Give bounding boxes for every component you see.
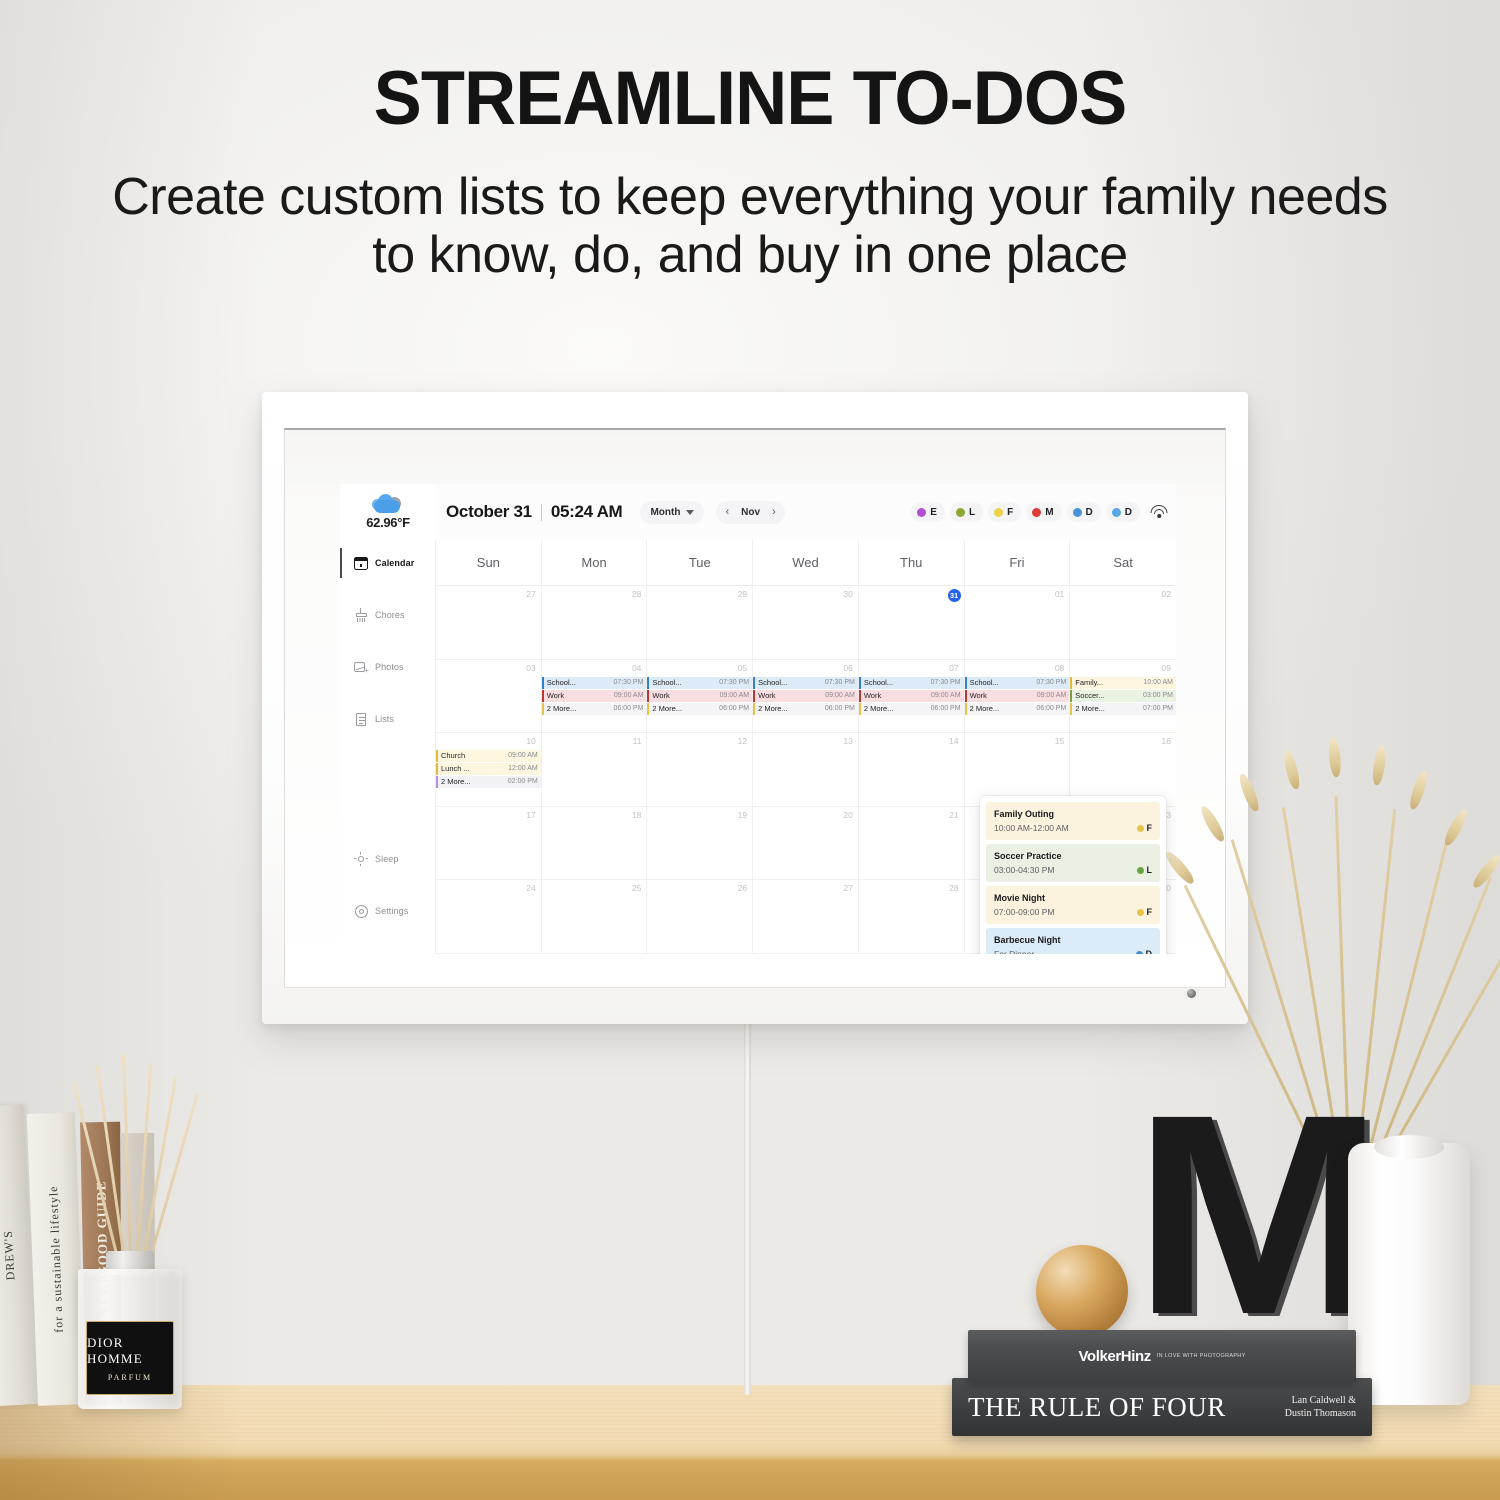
event-time: 06:00 PM bbox=[613, 703, 643, 715]
book-cover-bottom: THE RULE OF FOUR Lan Caldwell &Dustin Th… bbox=[952, 1378, 1372, 1436]
day-number: 01 bbox=[965, 589, 1070, 599]
popup-event-time: 10:00 AM-12:00 AM bbox=[994, 823, 1069, 833]
popup-event-card[interactable]: Soccer Practice03:00-04:30 PML bbox=[986, 844, 1160, 882]
calendar-grid: Sun Mon Tue Wed Thu Fri Sat 272829303101… bbox=[436, 540, 1176, 954]
event-time: 07:30 PM bbox=[719, 677, 749, 689]
owner-color-dot bbox=[1137, 867, 1144, 874]
calendar-day-cell[interactable]: 28 bbox=[542, 586, 648, 659]
owner-initial: F bbox=[1147, 823, 1153, 833]
event-detail-popup[interactable]: Family Outing10:00 AM-12:00 AMFSoccer Pr… bbox=[980, 796, 1166, 954]
calendar-event[interactable]: Family...10:00 AM bbox=[1070, 677, 1176, 689]
day-number: 27 bbox=[436, 589, 541, 599]
calendar-day-cell[interactable]: 13 bbox=[753, 733, 859, 806]
promo-subheadline: Create custom lists to keep everything y… bbox=[0, 168, 1500, 284]
day-number: 19 bbox=[647, 810, 752, 820]
day-number: 16 bbox=[1070, 736, 1176, 746]
dow-cell: Thu bbox=[859, 540, 965, 586]
day-number: 28 bbox=[542, 589, 647, 599]
diffuser-label: DIOR HOMME PARFUM bbox=[86, 1321, 174, 1395]
calendar-day-cell[interactable]: 07School...07:30 PMWork09:00 AM2 More...… bbox=[859, 660, 965, 733]
member-color-dot bbox=[1073, 508, 1082, 517]
wifi-icon[interactable] bbox=[1150, 505, 1168, 519]
popup-event-title: Movie Night bbox=[994, 892, 1152, 904]
event-time: 03:00 PM bbox=[1143, 690, 1173, 702]
day-number: 05 bbox=[647, 663, 752, 673]
view-mode-label: Month bbox=[650, 507, 680, 518]
owner-color-dot bbox=[1137, 825, 1144, 832]
day-number: 21 bbox=[859, 810, 964, 820]
event-title: School... bbox=[649, 677, 681, 689]
event-time: 06:00 PM bbox=[931, 703, 961, 715]
calendar-day-cell[interactable]: 20 bbox=[753, 807, 859, 880]
day-number: 15 bbox=[965, 736, 1070, 746]
event-time: 07:30 PM bbox=[1036, 677, 1066, 689]
event-title: Church bbox=[438, 750, 465, 762]
sidebar-item-label: Chores bbox=[375, 610, 405, 620]
event-title: 2 More... bbox=[861, 703, 894, 715]
event-time: 06:00 PM bbox=[719, 703, 749, 715]
calendar-day-cell[interactable]: 26 bbox=[647, 880, 753, 953]
calendar-day-cell[interactable]: 27 bbox=[753, 880, 859, 953]
day-number: 04 bbox=[542, 663, 647, 673]
calendar-event[interactable]: 2 More...06:00 PM bbox=[542, 703, 647, 715]
popup-event-time: For Dinner bbox=[994, 949, 1034, 954]
popup-event-owner: F bbox=[1137, 823, 1153, 833]
day-number: 17 bbox=[436, 810, 541, 820]
event-time: 07:30 PM bbox=[825, 677, 855, 689]
calendar-event[interactable]: Church09:00 AM bbox=[436, 750, 541, 762]
member-color-dot bbox=[1032, 508, 1041, 517]
event-title: 2 More... bbox=[438, 776, 471, 788]
weather-widget[interactable]: 62.96°F bbox=[340, 484, 436, 540]
calendar-event[interactable]: School...07:30 PM bbox=[965, 677, 1070, 689]
promo-text-block: STREAMLINE TO-DOS Create custom lists to… bbox=[0, 60, 1500, 284]
day-number: 25 bbox=[542, 883, 647, 893]
owner-initial: D bbox=[1146, 949, 1153, 954]
sun-icon bbox=[354, 852, 368, 866]
event-title: Work bbox=[544, 690, 564, 702]
calendar-day-cell[interactable]: 21 bbox=[859, 807, 965, 880]
popup-event-card[interactable]: Movie Night07:00-09:00 PMF bbox=[986, 886, 1160, 924]
calendar-day-cell[interactable]: 08School...07:30 PMWork09:00 AM2 More...… bbox=[965, 660, 1071, 733]
calendar-day-cell[interactable]: 30 bbox=[753, 586, 859, 659]
member-filter-bar: E L F M D D bbox=[911, 502, 1176, 522]
event-title: 2 More... bbox=[967, 703, 1000, 715]
reed-diffuser: DIOR HOMME PARFUM bbox=[70, 1245, 190, 1410]
day-number: 24 bbox=[436, 883, 541, 893]
sidebar-item-chores[interactable]: Chores bbox=[340, 600, 435, 630]
event-title: Work bbox=[755, 690, 775, 702]
broom-icon bbox=[354, 608, 368, 622]
owner-initial: F bbox=[1147, 907, 1153, 917]
sidebar-item-lists[interactable]: Lists bbox=[340, 704, 435, 734]
sidebar-item-label: Calendar bbox=[375, 558, 414, 568]
day-number: 08 bbox=[965, 663, 1070, 673]
popup-event-meta: 07:00-09:00 PMF bbox=[994, 907, 1152, 917]
day-number: 10 bbox=[436, 736, 541, 746]
day-events: School...07:30 PMWork09:00 AM2 More...06… bbox=[859, 677, 964, 715]
popup-event-title: Family Outing bbox=[994, 808, 1152, 820]
event-title: Lunch ... bbox=[438, 763, 470, 775]
view-mode-dropdown[interactable]: Month bbox=[640, 501, 704, 524]
calendar-day-cell[interactable]: 17 bbox=[436, 807, 542, 880]
member-color-dot bbox=[1112, 508, 1121, 517]
sidebar-nav: Calendar Chores + Photos Lists bbox=[340, 540, 436, 954]
event-time: 07:30 PM bbox=[613, 677, 643, 689]
day-number: 13 bbox=[753, 736, 858, 746]
popup-event-card[interactable]: Family Outing10:00 AM-12:00 AMF bbox=[986, 802, 1160, 840]
event-title: 2 More... bbox=[755, 703, 788, 715]
day-events: Family...10:00 AMSoccer...03:00 PM2 More… bbox=[1070, 677, 1176, 715]
popup-event-meta: 03:00-04:30 PML bbox=[994, 865, 1152, 875]
sidebar-item-label: Sleep bbox=[375, 854, 399, 864]
owner-color-dot bbox=[1137, 909, 1144, 916]
chevron-down-icon bbox=[686, 510, 694, 515]
calendar-event[interactable]: 2 More...06:00 PM bbox=[753, 703, 858, 715]
event-title: Family... bbox=[1072, 677, 1103, 689]
dow-cell: Mon bbox=[542, 540, 648, 586]
calendar-day-cell[interactable]: 27 bbox=[436, 586, 542, 659]
list-doc-icon bbox=[354, 712, 368, 726]
day-number: 30 bbox=[753, 589, 858, 599]
event-title: School... bbox=[967, 677, 999, 689]
calendar-event[interactable]: Lunch ...12:00 AM bbox=[436, 763, 541, 775]
event-title: Work bbox=[967, 690, 987, 702]
day-number: 12 bbox=[647, 736, 752, 746]
month-label: Nov bbox=[741, 507, 760, 518]
event-time: 06:00 PM bbox=[1036, 703, 1066, 715]
day-number: 09 bbox=[1070, 663, 1176, 673]
vase-mouth bbox=[1374, 1135, 1444, 1159]
dow-cell: Fri bbox=[965, 540, 1071, 586]
calendar-day-cell[interactable]: 18 bbox=[542, 807, 648, 880]
member-chip[interactable]: D bbox=[1106, 502, 1140, 522]
dow-cell: Wed bbox=[753, 540, 859, 586]
popup-event-time: 03:00-04:30 PM bbox=[994, 865, 1054, 875]
calendar-day-cell[interactable]: 12 bbox=[647, 733, 753, 806]
sidebar-item-calendar[interactable]: Calendar bbox=[340, 548, 435, 578]
event-time: 02:00 PM bbox=[508, 776, 538, 788]
book-cover-top: VolkerHinz IN LOVE WITH PHOTOGRAPHY bbox=[968, 1330, 1356, 1382]
day-number: 20 bbox=[753, 810, 858, 820]
book-title: THE RULE OF FOUR bbox=[968, 1392, 1226, 1423]
calendar-event[interactable]: 2 More...07:00 PM bbox=[1070, 703, 1176, 715]
sidebar-item-label: Settings bbox=[375, 906, 408, 916]
sidebar-item-settings[interactable]: Settings bbox=[340, 896, 435, 926]
popup-event-owner: D bbox=[1136, 949, 1153, 954]
calendar-day-cell[interactable]: 14 bbox=[859, 733, 965, 806]
event-title: School... bbox=[861, 677, 893, 689]
member-initial: L bbox=[969, 507, 975, 518]
member-initial: E bbox=[930, 507, 937, 518]
calendar-day-cell[interactable]: 16 bbox=[1070, 733, 1176, 806]
day-of-week-header: Sun Mon Tue Wed Thu Fri Sat bbox=[436, 540, 1176, 586]
calendar-icon bbox=[354, 556, 368, 570]
calendar-day-cell[interactable]: 19 bbox=[647, 807, 753, 880]
dow-cell: Sat bbox=[1070, 540, 1176, 586]
calendar-event[interactable]: Soccer...03:00 PM bbox=[1070, 690, 1176, 702]
calendar-event[interactable]: Work09:00 AM bbox=[965, 690, 1070, 702]
day-number: 14 bbox=[859, 736, 964, 746]
day-events: Church09:00 AMLunch ...12:00 AM2 More...… bbox=[436, 750, 541, 788]
day-number: 29 bbox=[647, 589, 752, 599]
event-title: School... bbox=[544, 677, 576, 689]
member-chip[interactable]: M bbox=[1026, 502, 1061, 522]
popup-event-owner: L bbox=[1137, 865, 1153, 875]
event-time: 10:00 AM bbox=[1143, 677, 1173, 689]
calendar-day-cell[interactable]: 11 bbox=[542, 733, 648, 806]
chevron-right-icon[interactable]: › bbox=[772, 507, 776, 518]
calendar-day-cell[interactable]: 01 bbox=[965, 586, 1071, 659]
member-chip[interactable]: L bbox=[950, 502, 983, 522]
day-number: 27 bbox=[753, 883, 858, 893]
calendar-event[interactable]: School...07:30 PM bbox=[647, 677, 752, 689]
event-time: 09:00 AM bbox=[508, 750, 538, 762]
member-initial: F bbox=[1007, 507, 1013, 518]
event-title: School... bbox=[755, 677, 787, 689]
photo-add-icon: + bbox=[354, 660, 368, 674]
event-time: 09:00 AM bbox=[1037, 690, 1067, 702]
cloud-icon bbox=[371, 494, 405, 513]
calendar-event[interactable]: School...07:30 PM bbox=[753, 677, 858, 689]
member-initial: D bbox=[1086, 507, 1093, 518]
calendar-event[interactable]: Work09:00 AM bbox=[859, 690, 964, 702]
day-number: 18 bbox=[542, 810, 647, 820]
calendar-day-cell[interactable]: 31 bbox=[859, 586, 965, 659]
calendar-day-cell[interactable]: 03 bbox=[436, 660, 542, 733]
display-screen: 62.96°F October 31 05:24 AM Month ‹ Nov … bbox=[340, 484, 1176, 954]
calendar-day-cell[interactable]: 15 bbox=[965, 733, 1071, 806]
event-time: 07:30 PM bbox=[931, 677, 961, 689]
popup-event-owner: F bbox=[1137, 907, 1153, 917]
decorative-letter-m: M bbox=[1133, 1090, 1385, 1340]
calendar-event[interactable]: School...07:30 PM bbox=[859, 677, 964, 689]
day-number: 07 bbox=[859, 663, 964, 673]
calendar-day-cell[interactable]: 06School...07:30 PMWork09:00 AM2 More...… bbox=[753, 660, 859, 733]
dow-cell: Sun bbox=[436, 540, 542, 586]
event-title: 2 More... bbox=[649, 703, 682, 715]
day-number: 03 bbox=[436, 663, 541, 673]
popup-event-title: Soccer Practice bbox=[994, 850, 1152, 862]
chevron-left-icon[interactable]: ‹ bbox=[725, 507, 729, 518]
calendar-day-cell[interactable]: 02 bbox=[1070, 586, 1176, 659]
day-events: School...07:30 PMWork09:00 AM2 More...06… bbox=[647, 677, 752, 715]
calendar-day-cell[interactable]: 29 bbox=[647, 586, 753, 659]
member-chip[interactable]: F bbox=[988, 502, 1021, 522]
event-time: 09:00 AM bbox=[720, 690, 750, 702]
day-number: 28 bbox=[859, 883, 964, 893]
calendar-day-cell[interactable]: 10Church09:00 AMLunch ...12:00 AM2 More.… bbox=[436, 733, 542, 806]
calendar-event[interactable]: 2 More...02:00 PM bbox=[436, 776, 541, 788]
popup-event-card[interactable]: Barbecue NightFor DinnerD bbox=[986, 928, 1160, 954]
promo-headline: STREAMLINE TO-DOS bbox=[38, 60, 1463, 138]
member-color-dot bbox=[994, 508, 1003, 517]
day-number: 11 bbox=[542, 736, 647, 746]
event-title: Work bbox=[649, 690, 669, 702]
month-navigator[interactable]: ‹ Nov › bbox=[716, 501, 784, 524]
day-number-today: 31 bbox=[948, 589, 961, 602]
event-title: 2 More... bbox=[1072, 703, 1105, 715]
member-color-dot bbox=[917, 508, 926, 517]
calendar-event[interactable]: School...07:30 PM bbox=[542, 677, 647, 689]
current-time: 05:24 AM bbox=[551, 502, 623, 522]
calendar-day-cell[interactable]: 05School...07:30 PMWork09:00 AM2 More...… bbox=[647, 660, 753, 733]
temperature-label: 62.96°F bbox=[366, 515, 410, 530]
calendar-event[interactable]: 2 More...06:00 PM bbox=[965, 703, 1070, 715]
event-title: 2 More... bbox=[544, 703, 577, 715]
calendar-event[interactable]: Work09:00 AM bbox=[753, 690, 858, 702]
calendar-day-cell[interactable]: 24 bbox=[436, 880, 542, 953]
dow-cell: Tue bbox=[647, 540, 753, 586]
gear-icon bbox=[354, 904, 368, 918]
book-authors: Lan Caldwell &Dustin Thomason bbox=[1285, 1394, 1356, 1420]
day-number: 06 bbox=[753, 663, 858, 673]
popup-event-title: Barbecue Night bbox=[994, 934, 1152, 946]
event-time: 07:00 PM bbox=[1143, 703, 1173, 715]
member-initial: M bbox=[1045, 507, 1053, 518]
member-color-dot bbox=[956, 508, 965, 517]
calendar-week-row: 27282930310102 bbox=[436, 586, 1176, 660]
event-title: Work bbox=[861, 690, 881, 702]
book-title: VolkerHinz bbox=[1078, 1348, 1150, 1365]
sidebar-item-label: Lists bbox=[375, 714, 394, 724]
day-number: 02 bbox=[1070, 589, 1176, 599]
day-events: School...07:30 PMWork09:00 AM2 More...06… bbox=[753, 677, 858, 715]
member-initial: D bbox=[1125, 507, 1132, 518]
sidebar-item-photos[interactable]: + Photos bbox=[340, 652, 435, 682]
calendar-event[interactable]: Work09:00 AM bbox=[647, 690, 752, 702]
divider bbox=[541, 504, 542, 521]
day-events: School...07:30 PMWork09:00 AM2 More...06… bbox=[965, 677, 1070, 715]
diffuser-sub: PARFUM bbox=[108, 1373, 152, 1382]
diffuser-brand: DIOR HOMME bbox=[87, 1335, 173, 1367]
day-number: 26 bbox=[647, 883, 752, 893]
event-time: 09:00 AM bbox=[614, 690, 644, 702]
owner-color-dot bbox=[1136, 951, 1143, 955]
event-time: 06:00 PM bbox=[825, 703, 855, 715]
calendar-event[interactable]: Work09:00 AM bbox=[542, 690, 647, 702]
calendar-event[interactable]: 2 More...06:00 PM bbox=[859, 703, 964, 715]
day-events: School...07:30 PMWork09:00 AM2 More...06… bbox=[542, 677, 647, 715]
member-chip[interactable]: E bbox=[911, 502, 945, 522]
popup-event-meta: For DinnerD bbox=[994, 949, 1152, 954]
owner-initial: L bbox=[1147, 865, 1153, 875]
calendar-event[interactable]: 2 More...06:00 PM bbox=[647, 703, 752, 715]
sidebar-item-sleep[interactable]: Sleep bbox=[340, 844, 435, 874]
calendar-week-row: 0304School...07:30 PMWork09:00 AM2 More.… bbox=[436, 660, 1176, 734]
power-cable bbox=[744, 1020, 751, 1395]
top-bar: 62.96°F October 31 05:24 AM Month ‹ Nov … bbox=[340, 484, 1176, 540]
popup-event-time: 07:00-09:00 PM bbox=[994, 907, 1054, 917]
event-time: 09:00 AM bbox=[931, 690, 961, 702]
calendar-day-cell[interactable]: 28 bbox=[859, 880, 965, 953]
sidebar-item-label: Photos bbox=[375, 662, 404, 672]
decorative-sphere bbox=[1036, 1245, 1128, 1337]
date-time-block: October 31 05:24 AM bbox=[446, 502, 622, 522]
book-spine-text: DREW'S bbox=[1, 1230, 19, 1281]
calendar-day-cell[interactable]: 25 bbox=[542, 880, 648, 953]
event-time: 09:00 AM bbox=[825, 690, 855, 702]
right-book-stack: THE RULE OF FOUR Lan Caldwell &Dustin Th… bbox=[952, 1330, 1372, 1440]
calendar-day-cell[interactable]: 09Family...10:00 AMSoccer...03:00 PM2 Mo… bbox=[1070, 660, 1176, 733]
event-title: Soccer... bbox=[1072, 690, 1104, 702]
member-chip[interactable]: D bbox=[1067, 502, 1101, 522]
book-subtitle: IN LOVE WITH PHOTOGRAPHY bbox=[1157, 1353, 1246, 1359]
event-time: 12:00 AM bbox=[508, 763, 538, 775]
popup-event-meta: 10:00 AM-12:00 AMF bbox=[994, 823, 1152, 833]
book-spine-text: for a sustainable lifestyle bbox=[46, 1185, 67, 1333]
current-date: October 31 bbox=[446, 502, 532, 522]
calendar-day-cell[interactable]: 04School...07:30 PMWork09:00 AM2 More...… bbox=[542, 660, 648, 733]
